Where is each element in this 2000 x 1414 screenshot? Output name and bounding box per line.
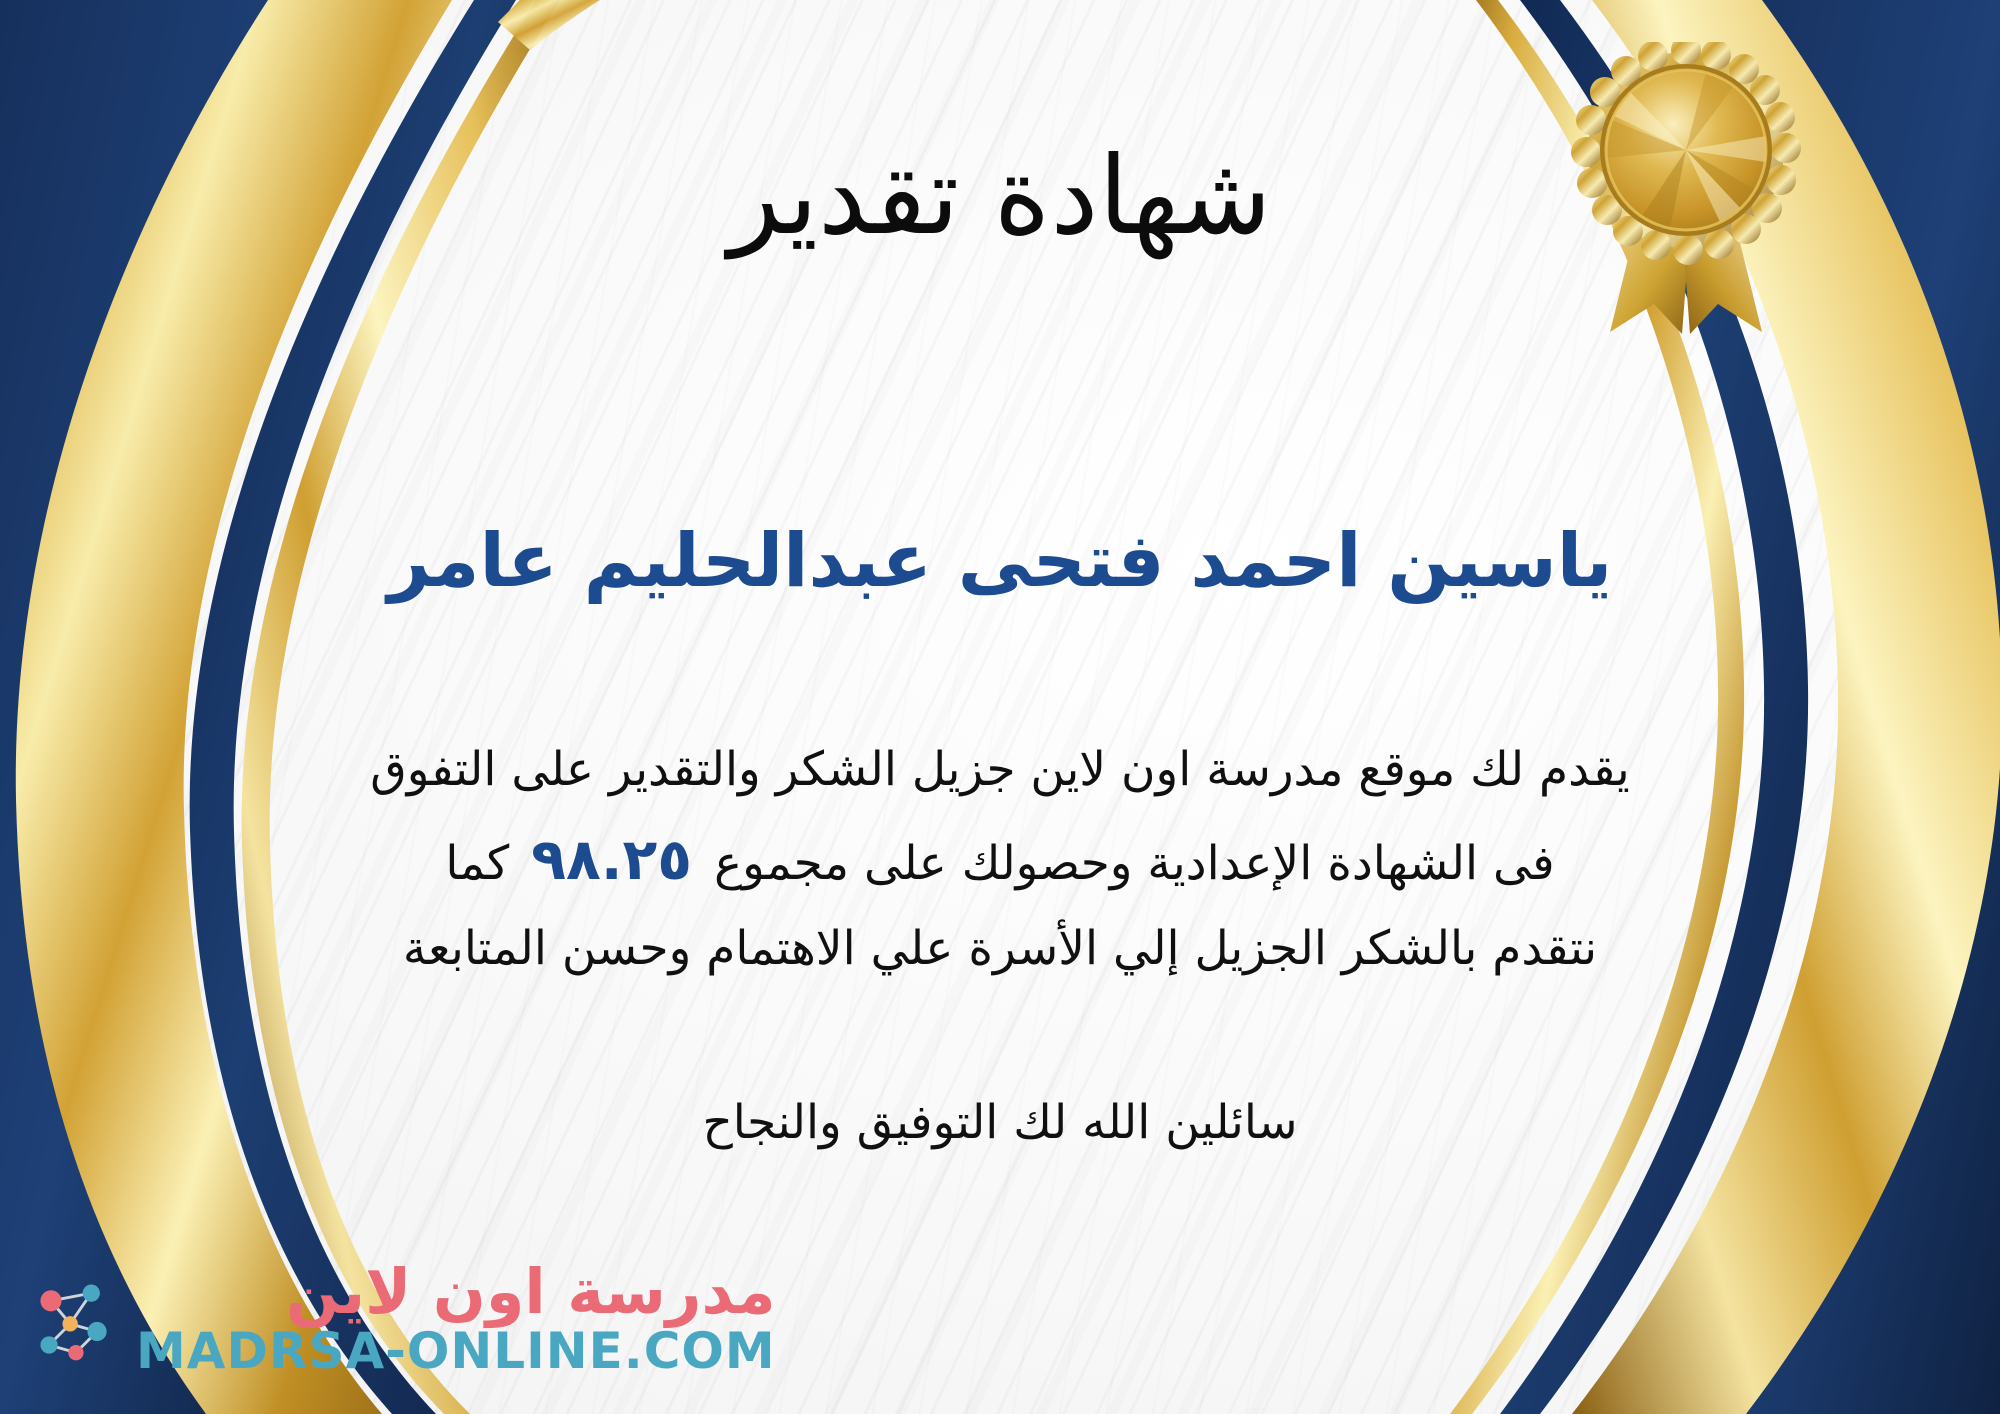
certificate-canvas: شهادة تقدير ياسين احمد فتحى عبدالحليم عا…	[0, 0, 2000, 1414]
body-line-2-text: فى الشهادة الإعدادية وحصولك على مجموع	[714, 836, 1555, 891]
score-value: ٩٨.٢٥	[509, 827, 714, 893]
body-line-2-suffix: كما	[445, 836, 509, 891]
certificate-body: يقدم لك موقع مدرسة اون لاين جزيل الشكر و…	[50, 730, 1950, 990]
certificate-content: شهادة تقدير ياسين احمد فتحى عبدالحليم عا…	[120, 0, 1880, 1414]
body-line-2: فى الشهادة الإعدادية وحصولك على مجموع٩٨.…	[50, 811, 1950, 909]
certificate-title: شهادة تقدير	[120, 138, 1880, 257]
network-nodes-icon	[26, 1272, 122, 1368]
brand-logo-text: مدرسة اون لاين MADRSA-ONLINE.COM	[136, 1261, 776, 1381]
closing-wish: سائلين الله لك التوفيق والنجاح	[120, 1095, 1880, 1150]
recipient-name: ياسين احمد فتحى عبدالحليم عامر	[120, 515, 1880, 608]
brand-website: MADRSA-ONLINE.COM	[136, 1323, 776, 1381]
brand-logo[interactable]: مدرسة اون لاين MADRSA-ONLINE.COM	[26, 1261, 776, 1381]
brand-name-arabic: مدرسة اون لاين	[136, 1261, 776, 1323]
body-line-3: نتقدم بالشكر الجزيل إلي الأسرة علي الاهت…	[50, 909, 1950, 990]
body-line-1: يقدم لك موقع مدرسة اون لاين جزيل الشكر و…	[50, 730, 1950, 811]
